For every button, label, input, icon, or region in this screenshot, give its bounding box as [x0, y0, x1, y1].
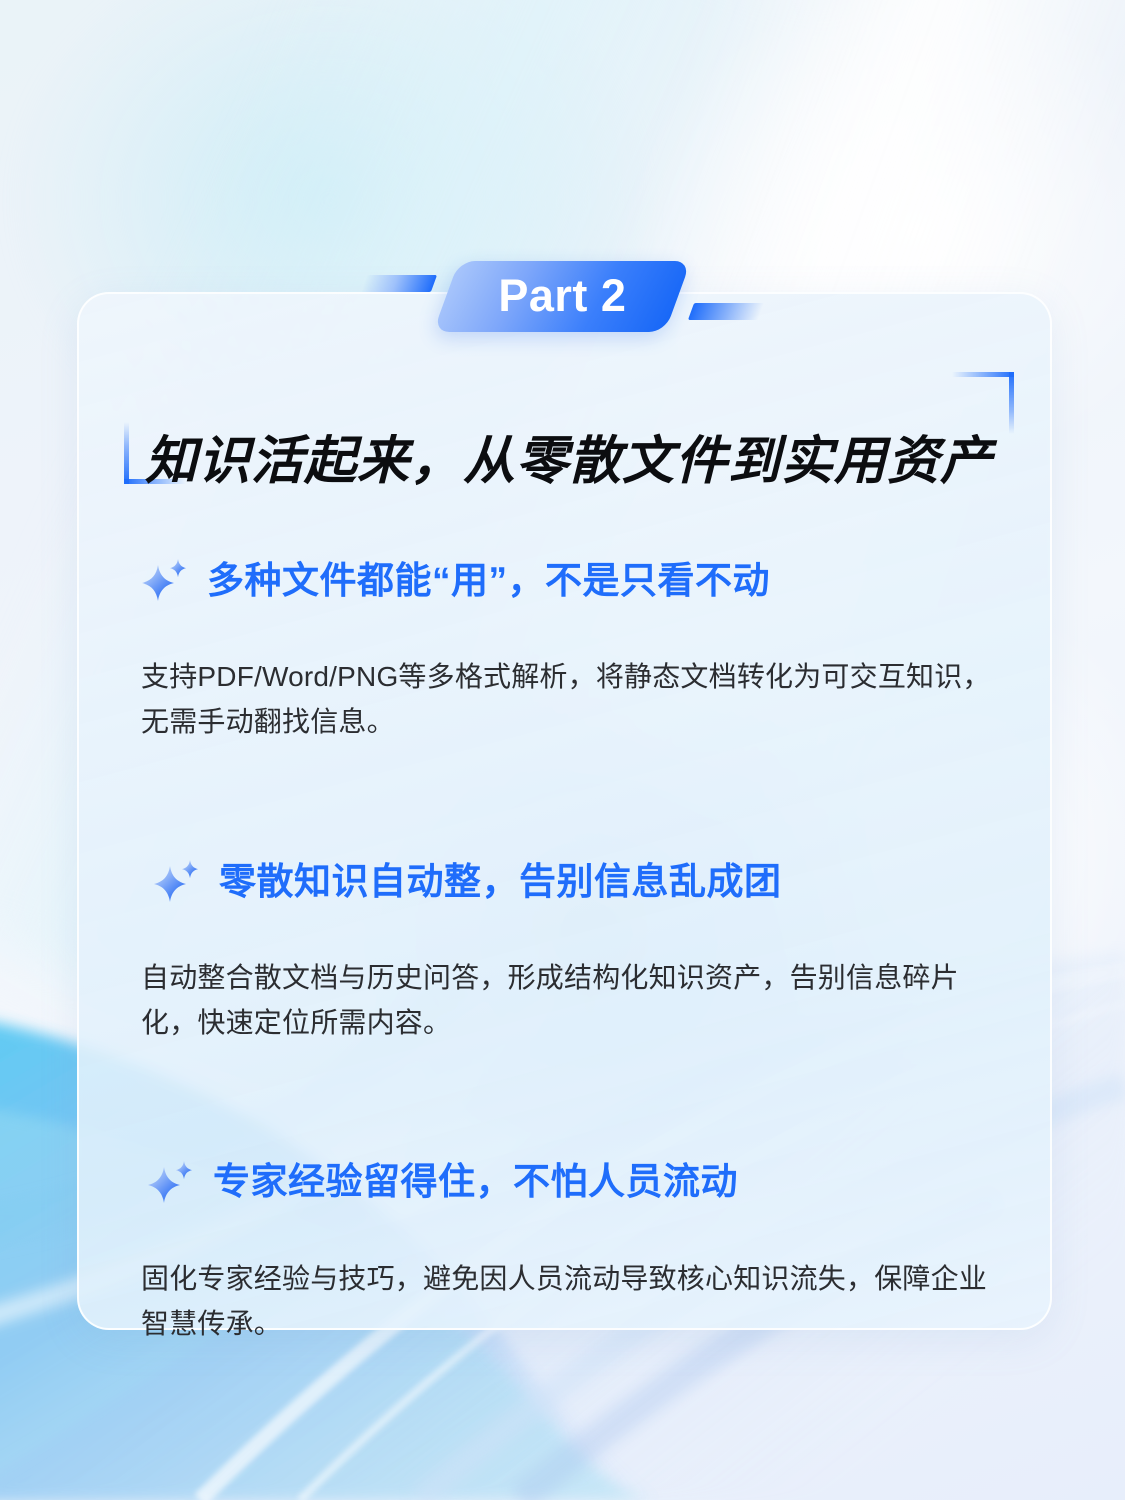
feature-description: 自动整合散文档与历史问答，形成结构化知识资产，告别信息碎片化，快速定位所需内容。: [141, 955, 1001, 1046]
part-badge-row: Part 2: [0, 252, 1125, 340]
feature-heading-row: 多种文件都能“用”，不是只看不动: [141, 530, 1003, 632]
feature-item: 多种文件都能“用”，不是只看不动 支持PDF/Word/PNG等多格式解析，将静…: [141, 530, 1003, 745]
title-block: 知识活起来，从零散文件到实用资产: [124, 372, 1014, 484]
sparkle-icon: [141, 557, 189, 605]
feature-description: 固化专家经验与技巧，避免因人员流动导致核心知识流失，保障企业智慧传承。: [141, 1256, 1001, 1347]
sparkle-icon: [153, 858, 201, 906]
part-badge: Part 2: [434, 261, 692, 332]
part-badge-label: Part 2: [499, 273, 627, 318]
feature-title: 多种文件都能“用”，不是只看不动: [207, 561, 770, 602]
feature-item: 零散知识自动整，告别信息乱成团 自动整合散文档与历史问答，形成结构化知识资产，告…: [141, 831, 1003, 1046]
feature-description: 支持PDF/Word/PNG等多格式解析，将静态文档转化为可交互知识，无需手动翻…: [141, 654, 1001, 745]
poster-root: Part 2 知识活起来，从零散文件到实用资产: [0, 0, 1125, 1500]
content-card: 知识活起来，从零散文件到实用资产: [77, 292, 1052, 1330]
page-title: 知识活起来，从零散文件到实用资产: [124, 433, 1014, 491]
feature-list: 多种文件都能“用”，不是只看不动 支持PDF/Word/PNG等多格式解析，将静…: [141, 530, 1003, 1374]
badge-accent-right-icon: [687, 303, 763, 320]
feature-title: 专家经验留得住，不怕人员流动: [213, 1162, 738, 1203]
badge-accent-left-icon: [361, 275, 437, 292]
feature-heading-row: 专家经验留得住，不怕人员流动: [147, 1132, 1003, 1234]
feature-heading-row: 零散知识自动整，告别信息乱成团: [153, 831, 1003, 933]
sparkle-icon: [147, 1159, 195, 1207]
feature-item: 专家经验留得住，不怕人员流动 固化专家经验与技巧，避免因人员流动导致核心知识流失…: [141, 1132, 1003, 1347]
feature-title: 零散知识自动整，告别信息乱成团: [219, 862, 782, 903]
corner-bracket-top-right-icon: [952, 372, 1014, 434]
